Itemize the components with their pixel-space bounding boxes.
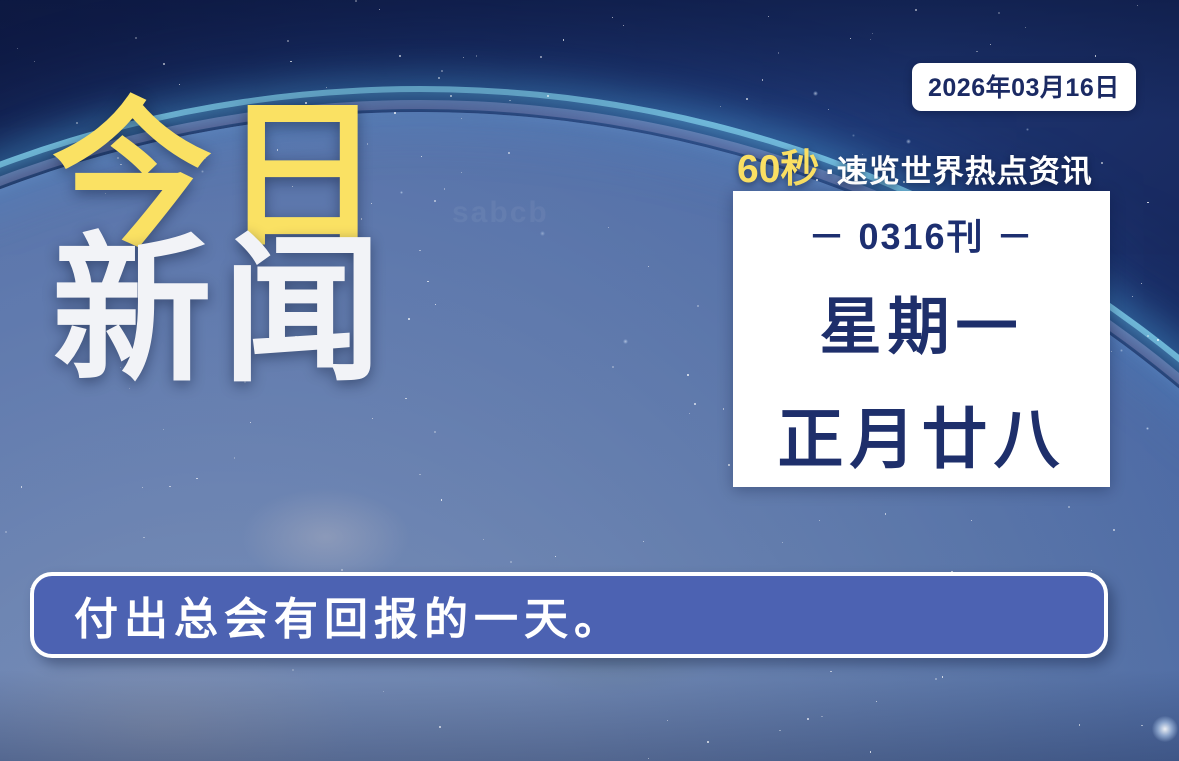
- issue-number: － 0316刊 －: [808, 208, 1034, 260]
- slogan-tagline: ·速览世界热点资讯: [825, 146, 1092, 191]
- date-badge: 2026年03月16日: [912, 63, 1136, 111]
- weekday-label: 星期一: [819, 276, 1023, 366]
- slogan: 60秒 ·速览世界热点资讯: [737, 138, 1093, 194]
- lunar-date-label: 正月廿八: [778, 386, 1066, 482]
- news-poster: sabcb 今日 新闻 2026年03月16日 60秒 ·速览世界热点资讯 － …: [0, 0, 1179, 761]
- quote-banner: 付出总会有回报的一天。: [30, 572, 1108, 658]
- info-card: － 0316刊 － 星期一 正月廿八: [733, 191, 1110, 487]
- title-line-news: 新闻: [52, 233, 392, 390]
- quote-text: 付出总会有回报的一天。: [74, 583, 624, 647]
- page-title: 今日 新闻: [52, 98, 392, 390]
- watermark-text: sabcb: [452, 196, 549, 230]
- slogan-seconds: 60秒: [737, 138, 819, 194]
